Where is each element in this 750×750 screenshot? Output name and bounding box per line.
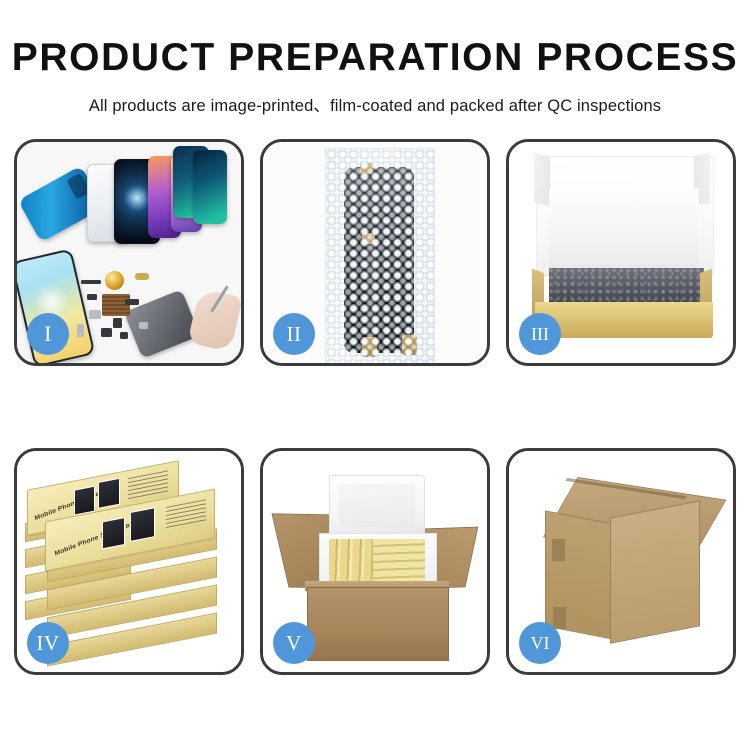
process-step-4: Mobile Phone Spare Parts Mobile Phone Sp… — [14, 448, 244, 675]
bubble-texture — [326, 149, 434, 363]
packed-boxes-icon — [373, 539, 425, 583]
step-2-badge: II — [273, 313, 315, 355]
box-spec-lines — [166, 499, 206, 531]
page-subtitle: All products are image-printed、film-coat… — [0, 92, 750, 116]
foam-cooler-lid-icon — [329, 475, 425, 537]
step-4-badge: IV — [27, 622, 69, 664]
step-4-image: Mobile Phone Spare Parts Mobile Phone Sp… — [17, 451, 241, 672]
step-6-badge: VI — [519, 622, 561, 664]
step-3-badge: III — [519, 313, 561, 355]
chip-board-icon — [102, 294, 130, 316]
small-part-icon — [120, 332, 128, 339]
carton-front-icon — [307, 587, 449, 661]
small-part-icon — [89, 310, 101, 319]
small-part-icon — [101, 328, 112, 337]
process-step-6: VI — [506, 448, 736, 675]
process-step-3: III — [506, 139, 736, 366]
bubble-wrap-bag-icon — [325, 148, 435, 363]
technician-hand-icon — [187, 288, 241, 352]
carton-side-right-icon — [610, 500, 700, 643]
process-step-2: II — [260, 139, 490, 366]
small-part-icon — [135, 273, 149, 280]
gold-speaker-icon — [105, 271, 124, 290]
tape-tab-icon — [552, 539, 565, 561]
step-1-badge: I — [27, 313, 69, 355]
box-label-text: Mobile Phone Spare Parts — [54, 518, 139, 557]
small-part-icon — [87, 294, 97, 300]
small-part-icon — [139, 322, 148, 329]
small-part-icon — [113, 318, 122, 328]
page-title: PRODUCT PREPARATION PROCESS — [0, 38, 750, 79]
step-5-image: V — [263, 451, 487, 672]
product-preparation-infographic: PRODUCT PREPARATION PROCESS All products… — [0, 0, 750, 750]
box-window-icon — [74, 486, 95, 516]
small-part-icon — [125, 299, 139, 305]
tape-tab-icon — [553, 607, 566, 629]
small-part-icon — [77, 324, 84, 337]
step-3-image: III — [509, 142, 733, 363]
box-window-icon — [130, 507, 155, 542]
step-6-image: VI — [509, 451, 733, 672]
step-2-image: II — [263, 142, 487, 363]
process-step-1: I — [14, 139, 244, 366]
box-window-icon — [102, 517, 125, 549]
box-window-icon — [98, 478, 120, 509]
lid-flap-left-icon — [534, 153, 550, 206]
step-1-image: I — [17, 142, 241, 363]
header: PRODUCT PREPARATION PROCESS All products… — [0, 0, 750, 116]
small-part-icon — [81, 280, 101, 284]
box-spec-lines — [128, 470, 168, 502]
process-step-grid: I II — [14, 139, 736, 675]
phone-teal2-screen-icon — [193, 150, 227, 224]
step-5-badge: V — [273, 622, 315, 664]
kraft-box-front-icon — [535, 302, 713, 338]
process-step-5: V — [260, 448, 490, 675]
